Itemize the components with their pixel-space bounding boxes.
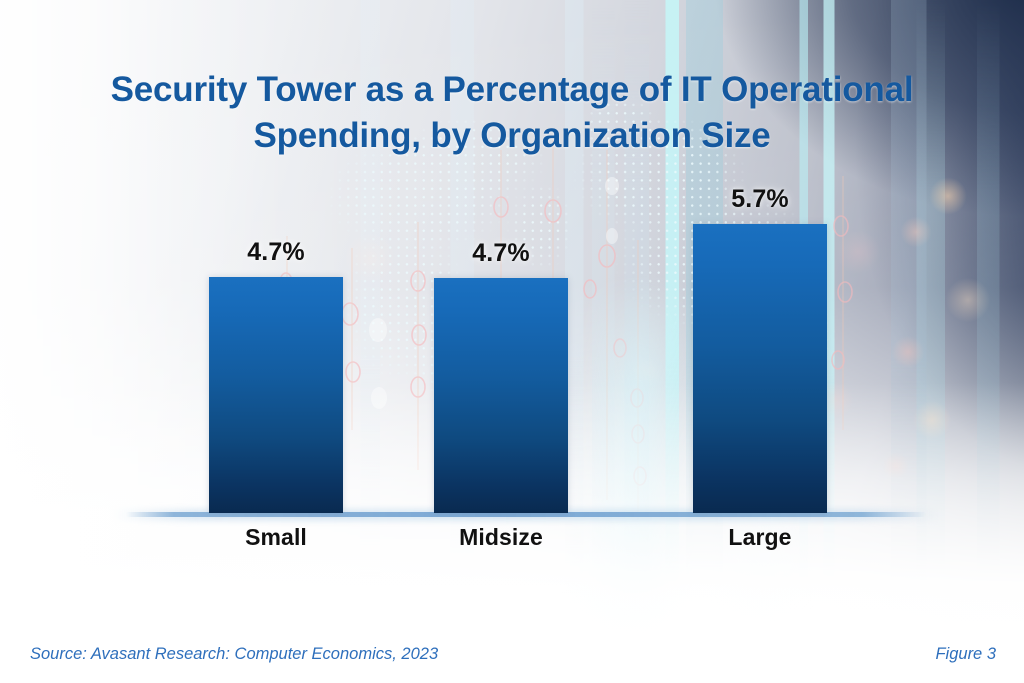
- bar-small[interactable]: [209, 277, 343, 513]
- bar-chart-plot-area: 4.7% Small 4.7% Midsize 5.7% Large: [0, 0, 1024, 683]
- figure-canvas: Security Tower as a Percentage of IT Ope…: [0, 0, 1024, 683]
- bar-large[interactable]: [693, 224, 827, 513]
- bar-value-label-midsize: 4.7%: [434, 239, 568, 268]
- category-label-small: Small: [199, 524, 353, 551]
- source-note: Source: Avasant Research: Computer Econo…: [30, 645, 438, 664]
- category-label-midsize: Midsize: [424, 524, 578, 551]
- bar-midsize[interactable]: [434, 278, 568, 513]
- category-label-large: Large: [683, 524, 837, 551]
- bar-value-label-small: 4.7%: [209, 238, 343, 267]
- bar-value-label-large: 5.7%: [693, 185, 827, 214]
- figure-number: Figure 3: [935, 645, 996, 664]
